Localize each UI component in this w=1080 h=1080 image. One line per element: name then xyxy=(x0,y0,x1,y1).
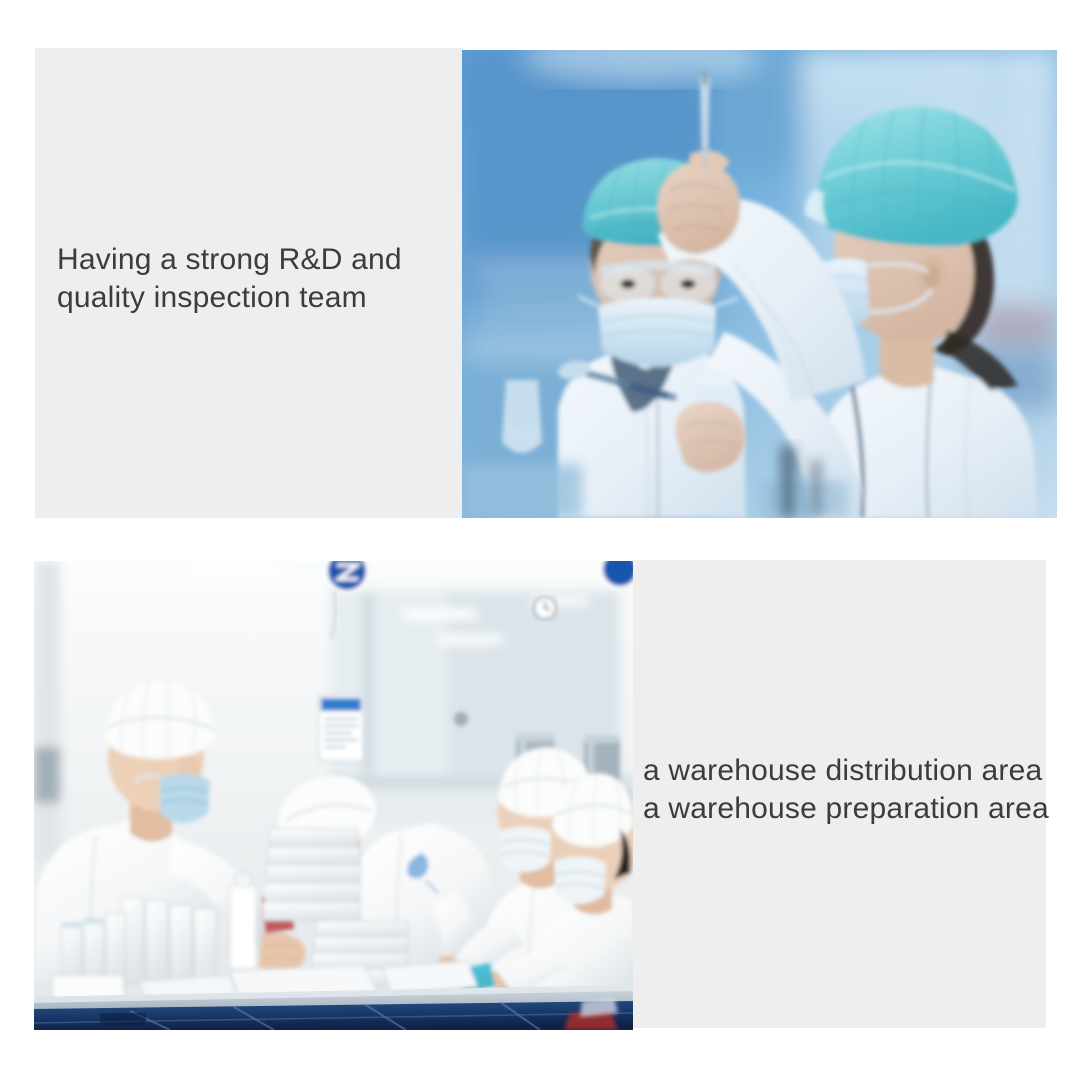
lab-inspection-photo xyxy=(462,50,1057,518)
top-caption-line-1: Having a strong R&D and xyxy=(57,241,402,279)
lab-inspection-illustration xyxy=(462,50,1057,518)
bottom-caption: a warehouse distribution area a warehous… xyxy=(643,752,1049,829)
bottom-caption-line-2: a warehouse preparation area xyxy=(643,790,1049,828)
promo-banner: Having a strong R&D and quality inspecti… xyxy=(0,0,1080,1080)
bottom-caption-line-1: a warehouse distribution area xyxy=(643,752,1049,790)
top-caption-line-2: quality inspection team xyxy=(57,279,402,317)
warehouse-packing-illustration xyxy=(34,561,633,1030)
warehouse-packing-photo xyxy=(34,561,633,1030)
top-caption: Having a strong R&D and quality inspecti… xyxy=(57,241,402,318)
